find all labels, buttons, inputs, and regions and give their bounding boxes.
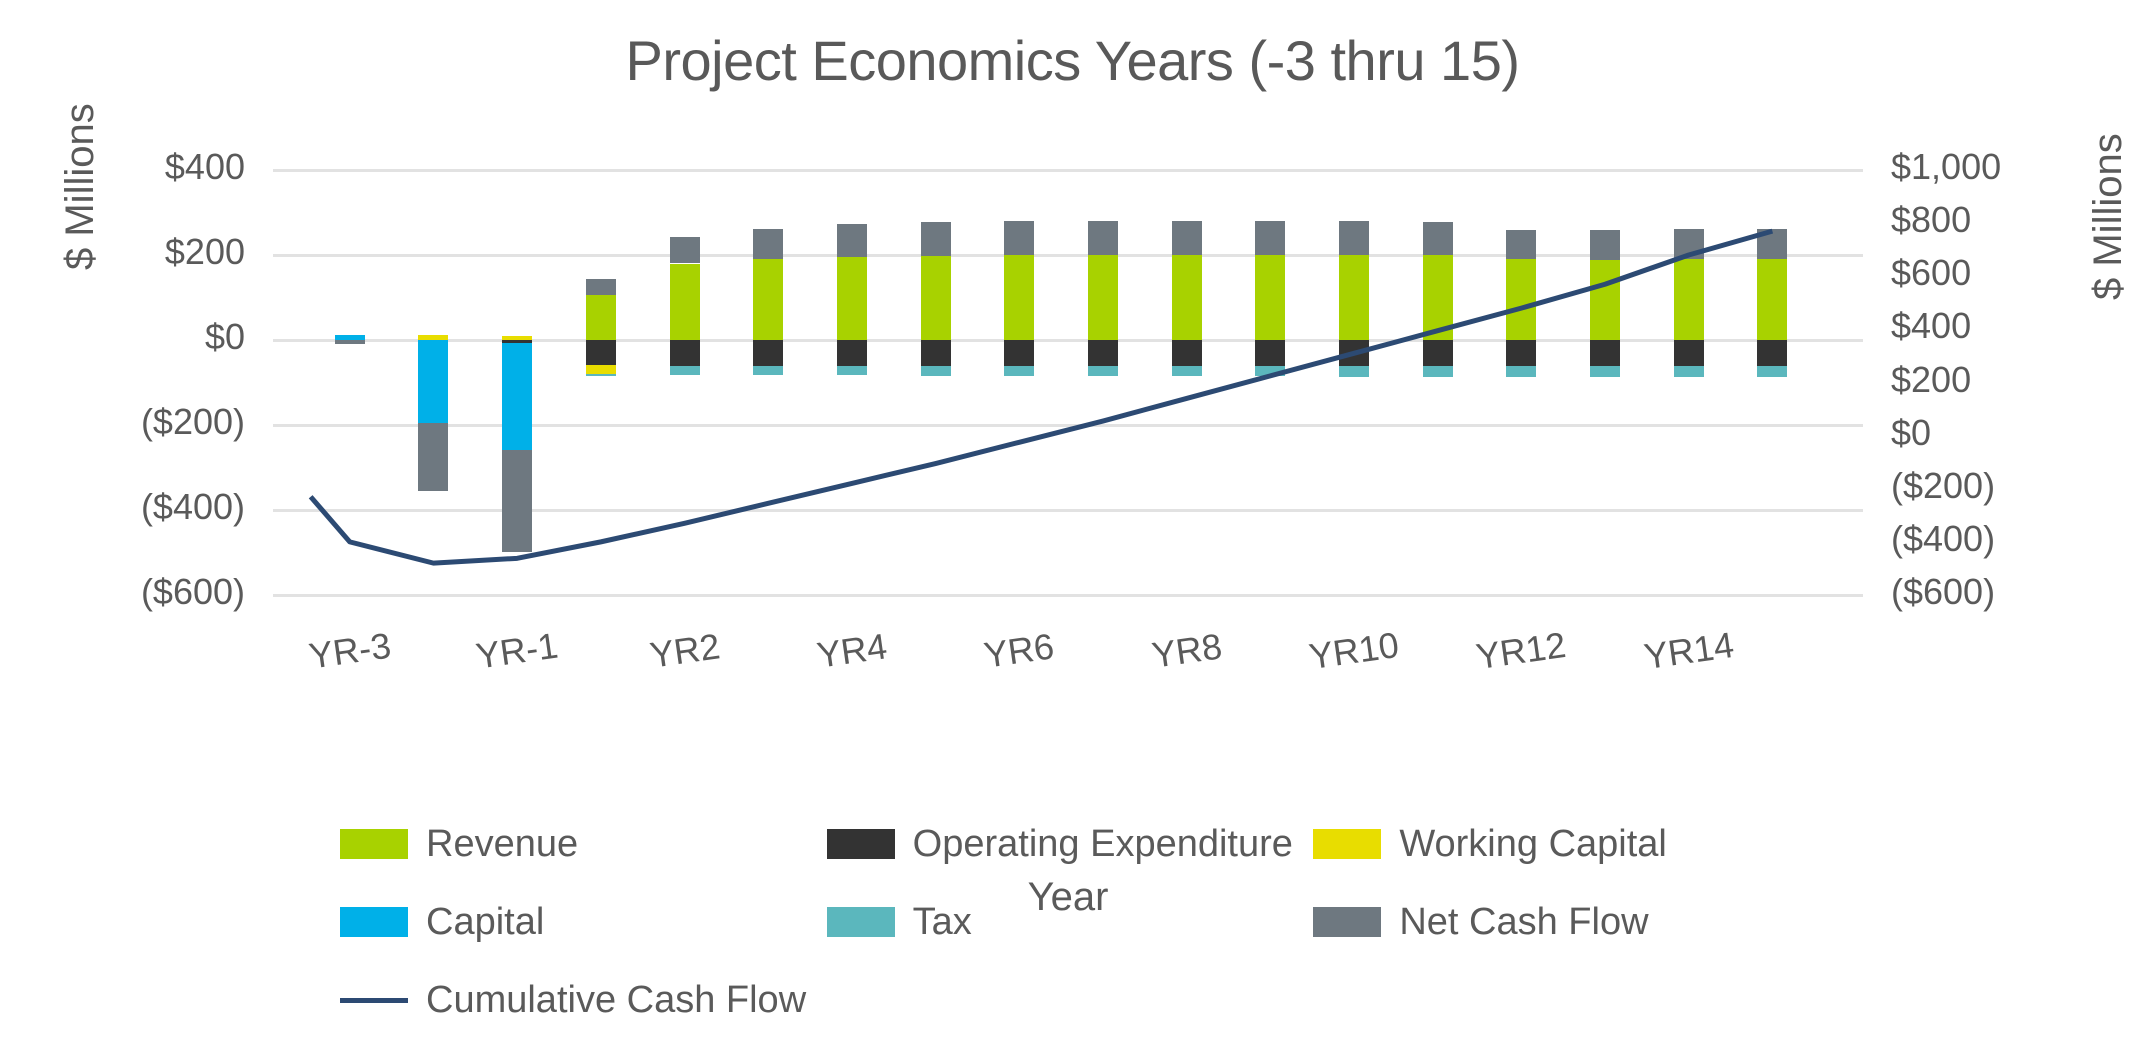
legend-swatch-icon: [827, 907, 895, 937]
y-axis-tick-left: $200: [0, 231, 245, 273]
x-axis-tick: YR-1: [450, 621, 585, 681]
x-axis-tick: YR-3: [282, 621, 417, 681]
legend-row-1: RevenueOperating ExpenditureWorking Capi…: [340, 805, 1800, 883]
legend-row-3: Cumulative Cash Flow: [340, 961, 1800, 1039]
legend-label: Capital: [426, 901, 544, 944]
legend-swatch-icon: [340, 907, 408, 937]
y-axis-title-right: $ Millions: [2086, 133, 2131, 300]
legend-item[interactable]: Cumulative Cash Flow: [340, 979, 827, 1022]
legend-row-2: CapitalTaxNet Cash Flow: [340, 883, 1800, 961]
x-axis-tick: YR4: [785, 621, 920, 681]
legend-swatch-icon: [1313, 829, 1381, 859]
y-axis-tick-left: ($400): [0, 486, 245, 528]
chart-title: Project Economics Years (-3 thru 15): [0, 28, 2145, 93]
legend-label: Revenue: [426, 823, 578, 866]
chart-page: Project Economics Years (-3 thru 15) $ M…: [0, 0, 2145, 1061]
x-axis-tick: YR2: [617, 621, 752, 681]
y-axis-tick-left: $0: [0, 316, 245, 358]
y-axis-tick-right: $600: [1891, 252, 1971, 294]
legend-swatch-icon: [827, 829, 895, 859]
legend-label: Cumulative Cash Flow: [426, 979, 806, 1022]
cumulative-cash-flow-line: [273, 170, 1863, 595]
legend-item[interactable]: Revenue: [340, 823, 827, 866]
legend-item[interactable]: Tax: [827, 901, 1314, 944]
y-axis-tick-right: $0: [1891, 412, 1931, 454]
y-axis-tick-left: ($200): [0, 401, 245, 443]
cumulative-line-path: [311, 231, 1773, 563]
legend-item[interactable]: Operating Expenditure: [827, 823, 1314, 866]
x-axis-tick: YR6: [952, 621, 1087, 681]
x-axis-tick: YR8: [1119, 621, 1254, 681]
legend-item[interactable]: Capital: [340, 901, 827, 944]
legend-swatch-icon: [340, 829, 408, 859]
y-axis-tick-right: $400: [1891, 305, 1971, 347]
y-axis-tick-right: $200: [1891, 359, 1971, 401]
y-axis-tick-right: ($600): [1891, 571, 1995, 613]
x-axis-tick: YR14: [1621, 621, 1756, 681]
x-axis-tick: YR12: [1454, 621, 1589, 681]
legend-item[interactable]: Working Capital: [1313, 823, 1800, 866]
legend-label: Tax: [913, 901, 972, 944]
y-axis-tick-right: $1,000: [1891, 146, 2001, 188]
plot-area: YR-3YR-1YR2YR4YR6YR8YR10YR12YR14 Year: [273, 170, 1863, 595]
legend-item[interactable]: Net Cash Flow: [1313, 901, 1800, 944]
chart-legend: RevenueOperating ExpenditureWorking Capi…: [340, 805, 1800, 1039]
legend-label: Net Cash Flow: [1399, 901, 1648, 944]
y-axis-tick-left: ($600): [0, 571, 245, 613]
legend-label: Operating Expenditure: [913, 823, 1293, 866]
y-axis-tick-right: $800: [1891, 199, 1971, 241]
legend-swatch-icon: [1313, 907, 1381, 937]
y-axis-tick-right: ($400): [1891, 518, 1995, 560]
legend-swatch-icon: [340, 998, 408, 1003]
y-axis-tick-right: ($200): [1891, 465, 1995, 507]
x-axis-tick: YR10: [1287, 621, 1422, 681]
legend-label: Working Capital: [1399, 823, 1667, 866]
y-axis-tick-left: $400: [0, 146, 245, 188]
